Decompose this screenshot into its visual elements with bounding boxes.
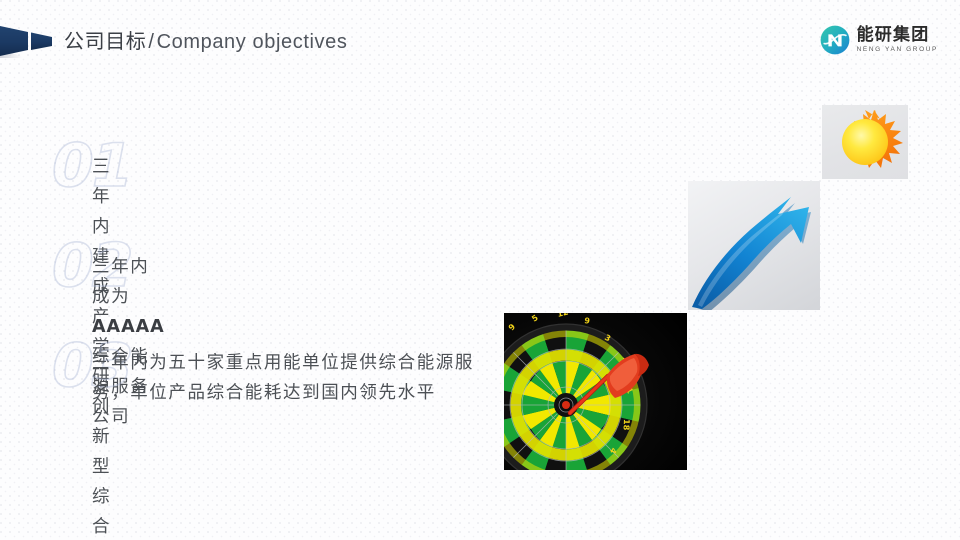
- svg-text:18: 18: [622, 419, 631, 431]
- page-title-en: Company objectives: [157, 31, 348, 53]
- page-title: 公司目标/Company objectives: [64, 27, 347, 57]
- objective-text-03: 三年内为五十家重点用能单位提供综合能源服务，单位产品综合能耗达到国内领先水平: [92, 348, 512, 408]
- header-ribbon-decoration: [0, 24, 56, 58]
- sun-image: [822, 105, 908, 179]
- logo-wordmark: 能研集团 NENG YAN GROUP: [857, 27, 938, 54]
- growth-arrow-image: [688, 181, 820, 310]
- logo-name-cn: 能研集团: [857, 27, 938, 44]
- logo-name-en: NENG YAN GROUP: [857, 47, 938, 54]
- dartboard-image: 9 5 12 9 3 2 1 18 4: [504, 313, 687, 470]
- objective-text-02-before: 三年内成为: [92, 257, 149, 307]
- neng-yan-group-circular-logo-icon: [820, 25, 850, 55]
- company-logo: 能研集团 NENG YAN GROUP: [820, 22, 938, 58]
- sun-icon: [822, 105, 908, 179]
- page-title-separator: /: [146, 31, 156, 53]
- dartboard-icon: 9 5 12 9 3 2 1 18 4: [504, 313, 687, 470]
- slide-canvas: 公司目标/Company objectives 能研集团 NENG YAN GR…: [0, 0, 960, 540]
- growth-arrow-icon: [688, 181, 820, 310]
- page-title-cn: 公司目标: [64, 31, 146, 53]
